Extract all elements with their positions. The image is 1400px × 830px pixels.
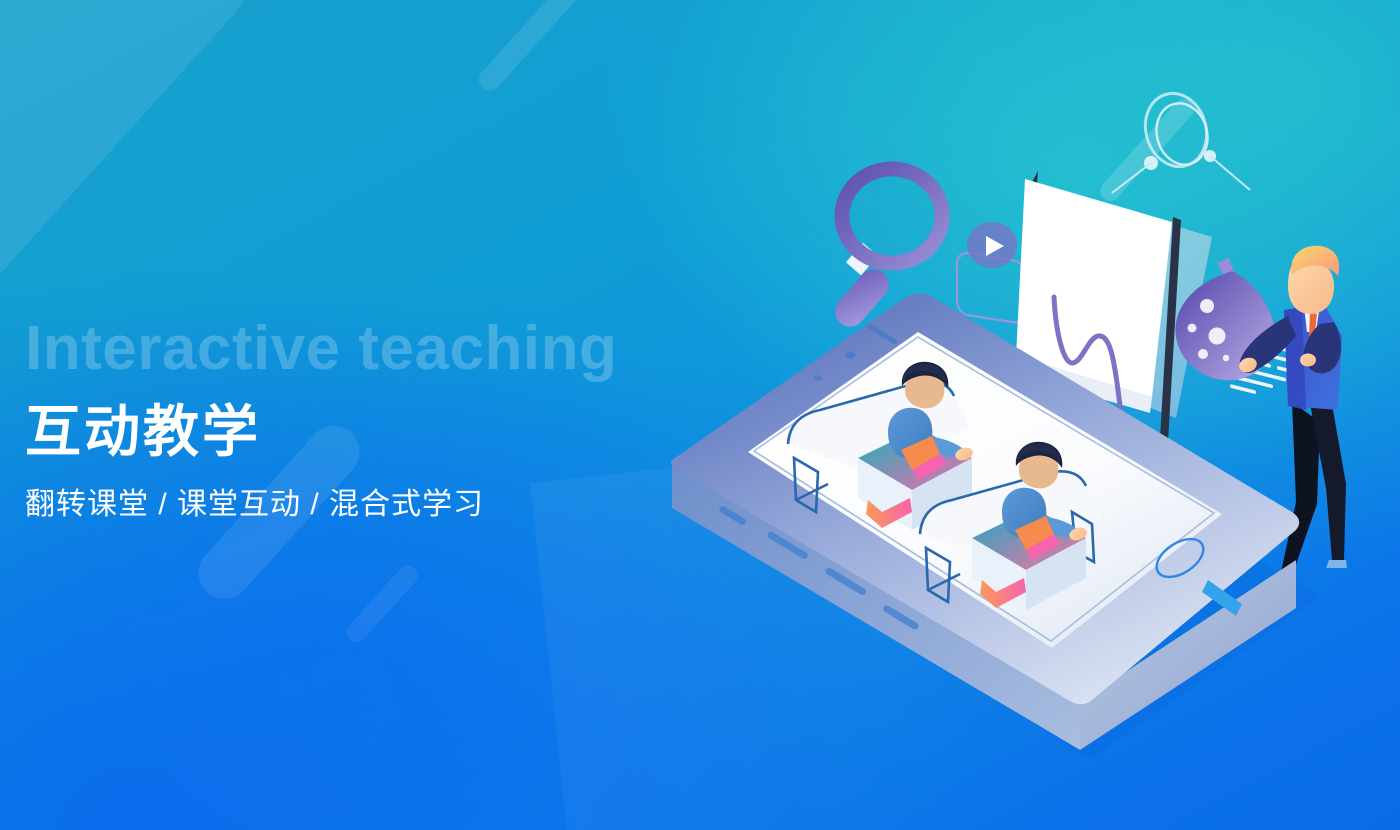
illustration: [620, 60, 1400, 820]
promo-banner: Interactive teaching 互动教学 翻转课堂 / 课堂互动 / …: [0, 0, 1400, 830]
idea-node-icon: [1112, 86, 1250, 193]
video-play-icon: [957, 222, 1025, 324]
